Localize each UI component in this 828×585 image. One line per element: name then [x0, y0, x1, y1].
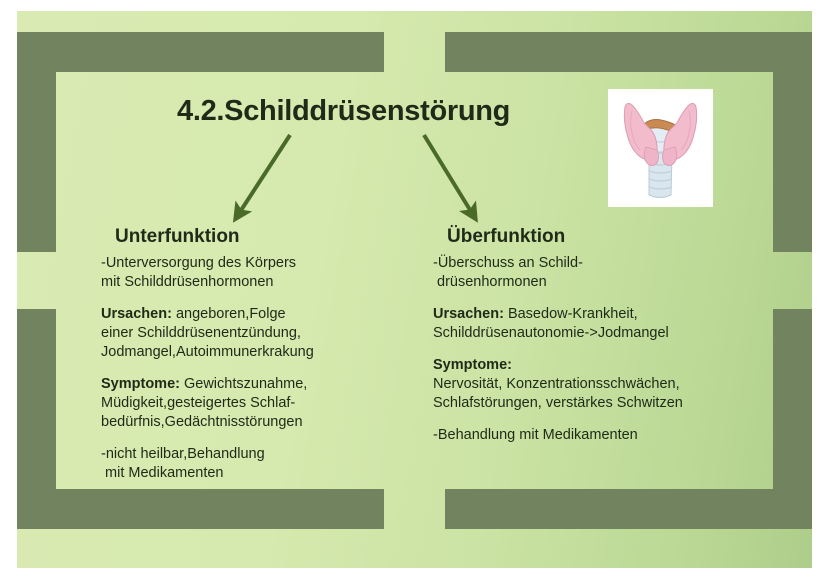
block-line: angeboren,Folge	[172, 306, 286, 322]
block-symptome: Symptome: Gewichtszunahme, Müdigkeit,ges…	[101, 375, 431, 432]
thyroid-gland-illustration	[608, 89, 713, 207]
column-unterfunktion: Unterfunktion -Unterversorgung des Körpe…	[101, 226, 431, 496]
block-definition: -Unterversorgung des Körpers mit Schildd…	[101, 254, 431, 292]
block-behandlung: -Behandlung mit Medikamenten	[433, 426, 793, 445]
corner-bracket-top-right-horizontal	[445, 32, 812, 72]
corner-bracket-top-left-horizontal	[17, 32, 384, 72]
heading-ueberfunktion: Überfunktion	[447, 226, 793, 248]
corner-bracket-top-right-vertical	[773, 32, 812, 252]
block-line: Müdigkeit,gesteigertes Schlaf-	[101, 395, 295, 411]
arrow-to-unterfunktion	[236, 135, 290, 218]
arrow-to-ueberfunktion	[424, 135, 475, 218]
block-ursachen: Ursachen: Basedow-Krankheit, Schilddrüse…	[433, 305, 793, 343]
block-line: Basedow-Krankheit,	[504, 306, 638, 322]
block-lead: Ursachen:	[101, 306, 172, 322]
block-lead: Ursachen:	[433, 306, 504, 322]
block-symptome: Symptome: Nervosität, Konzentrationsschw…	[433, 356, 793, 413]
block-line: drüsenhormonen	[433, 274, 547, 290]
block-line: -nicht heilbar,Behandlung	[101, 446, 265, 462]
block-line: Schilddrüsenautonomie->Jodmangel	[433, 325, 669, 341]
corner-bracket-bottom-right-horizontal	[445, 489, 812, 529]
heading-unterfunktion: Unterfunktion	[115, 226, 431, 248]
block-line: mit Medikamenten	[101, 465, 224, 481]
slide-title: 4.2.Schilddrüsenstörung	[177, 95, 607, 128]
block-line: -Unterversorgung des Körpers	[101, 255, 296, 271]
block-ursachen: Ursachen: angeboren,Folge einer Schilddr…	[101, 305, 431, 362]
block-line: -Überschuss an Schild-	[433, 255, 583, 271]
block-lead: Symptome:	[101, 376, 180, 392]
thyroid-image-frame	[608, 89, 713, 207]
corner-bracket-bottom-left-vertical	[17, 309, 56, 529]
block-line: einer Schilddrüsenentzündung,	[101, 325, 301, 341]
block-line: Jodmangel,Autoimmunerkrakung	[101, 344, 314, 360]
column-ueberfunktion: Überfunktion -Überschuss an Schild- drüs…	[433, 226, 793, 458]
block-behandlung: -nicht heilbar,Behandlung mit Medikament…	[101, 445, 431, 483]
block-definition: -Überschuss an Schild- drüsenhormonen	[433, 254, 793, 292]
block-line: bedürfnis,Gedächtnisstörungen	[101, 414, 303, 430]
thyroid-right-lobe-tip	[663, 147, 677, 166]
thyroid-left-lobe-tip	[644, 147, 658, 166]
block-line: Schlafstörungen, verstärkes Schwitzen	[433, 395, 683, 411]
corner-bracket-top-left-vertical	[17, 32, 56, 252]
block-line: -Behandlung mit Medikamenten	[433, 427, 638, 443]
block-line: Gewichtszunahme,	[180, 376, 307, 392]
block-line: mit Schilddrüsenhormonen	[101, 274, 273, 290]
slide-canvas: 4.2.Schilddrüsenstörung	[17, 11, 812, 568]
block-line: Nervosität, Konzentrationsschwächen,	[433, 376, 680, 392]
block-lead: Symptome:	[433, 357, 512, 373]
